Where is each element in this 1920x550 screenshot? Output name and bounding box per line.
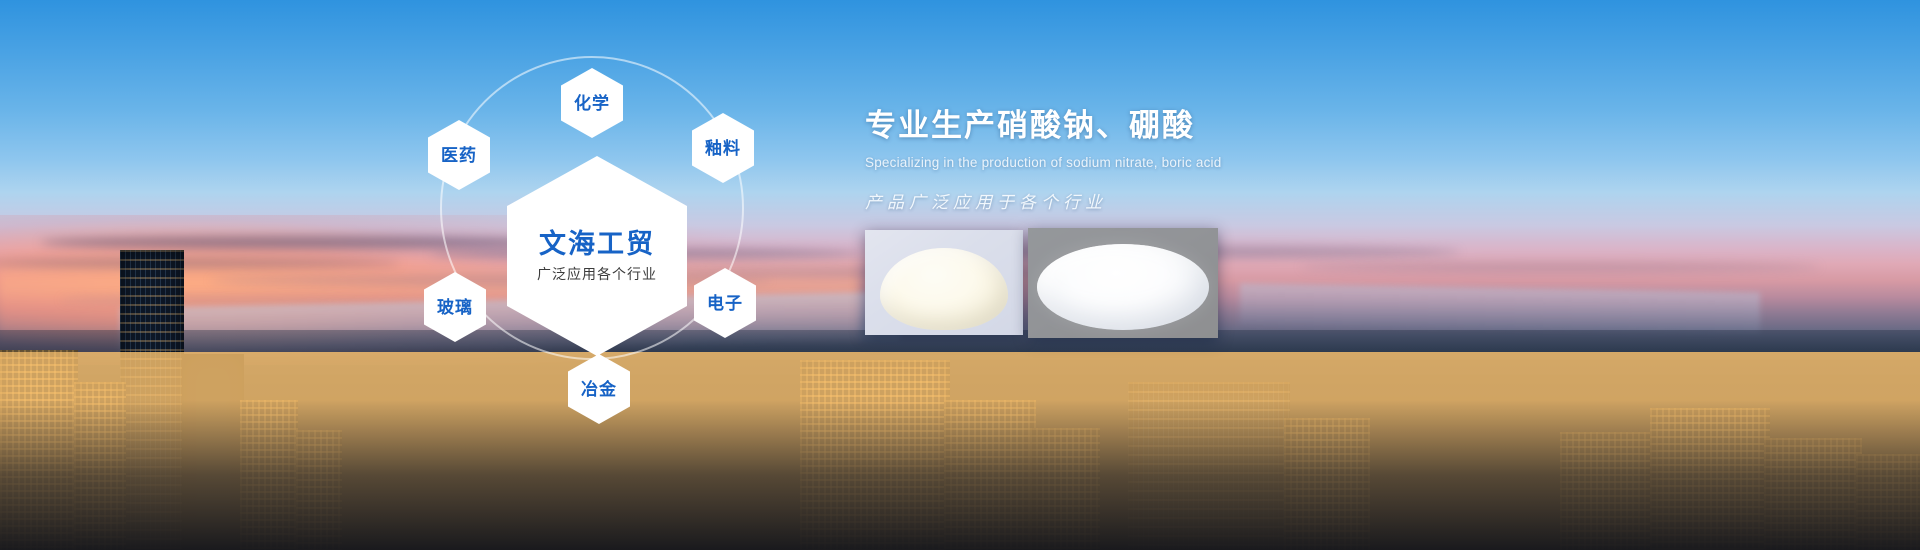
headline-primary: 专业生产硝酸钠、硼酸 bbox=[865, 100, 1485, 145]
hex-label: 化学 bbox=[574, 95, 610, 112]
industry-hex-diagram: 文海工贸 广泛应用各个行业 化学 釉料 电子 冶金 玻璃 医药 bbox=[420, 28, 820, 428]
powder-texture bbox=[865, 230, 1023, 335]
headline-block: 专业生产硝酸钠、硼酸 Specializing in the productio… bbox=[865, 100, 1485, 213]
promotional-banner: 文海工贸 广泛应用各个行业 化学 釉料 电子 冶金 玻璃 医药 专业生产硝酸钠、… bbox=[0, 0, 1920, 550]
brand-name: 文海工贸 bbox=[539, 231, 655, 258]
hex-label: 玻璃 bbox=[437, 299, 473, 316]
brand-subtitle: 广泛应用各个行业 bbox=[537, 267, 657, 281]
headline-secondary: 产品广泛应用于各个行业 bbox=[865, 188, 1485, 213]
hex-label: 釉料 bbox=[705, 140, 741, 157]
boric-acid-photo[interactable] bbox=[1028, 228, 1218, 338]
hex-label: 医药 bbox=[441, 147, 477, 164]
hex-metallurgy[interactable]: 冶金 bbox=[568, 354, 630, 424]
hex-label: 电子 bbox=[707, 295, 743, 312]
hex-label: 冶金 bbox=[581, 381, 617, 398]
powder-texture bbox=[1028, 228, 1218, 338]
foreground-shadow bbox=[0, 400, 1920, 550]
sodium-nitrate-photo[interactable] bbox=[865, 230, 1023, 335]
cloud-streak bbox=[1300, 262, 1820, 272]
headline-english: Specializing in the production of sodium… bbox=[865, 155, 1485, 170]
